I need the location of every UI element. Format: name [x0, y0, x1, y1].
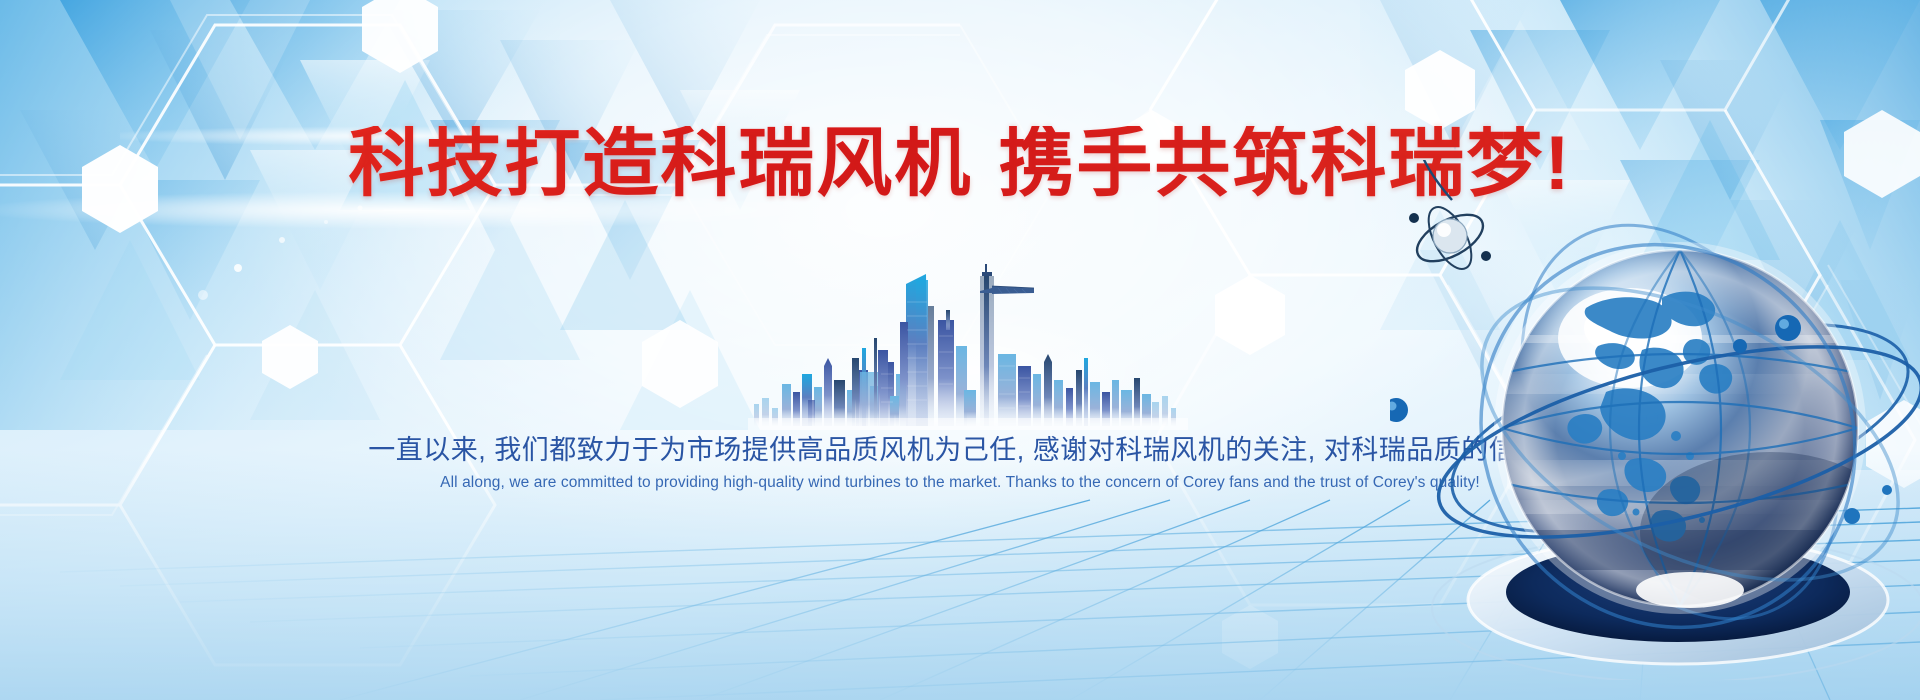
hero-banner: 科技打造科瑞风机携手共筑科瑞梦! 一直以来, 我们都致力于为市场提供高品质风机为…: [0, 0, 1920, 700]
headline-part-1: 科技打造科瑞风机: [348, 121, 972, 206]
orbiting-atom: [1409, 160, 1491, 276]
chrome-globe-illustration: [1390, 160, 1920, 680]
